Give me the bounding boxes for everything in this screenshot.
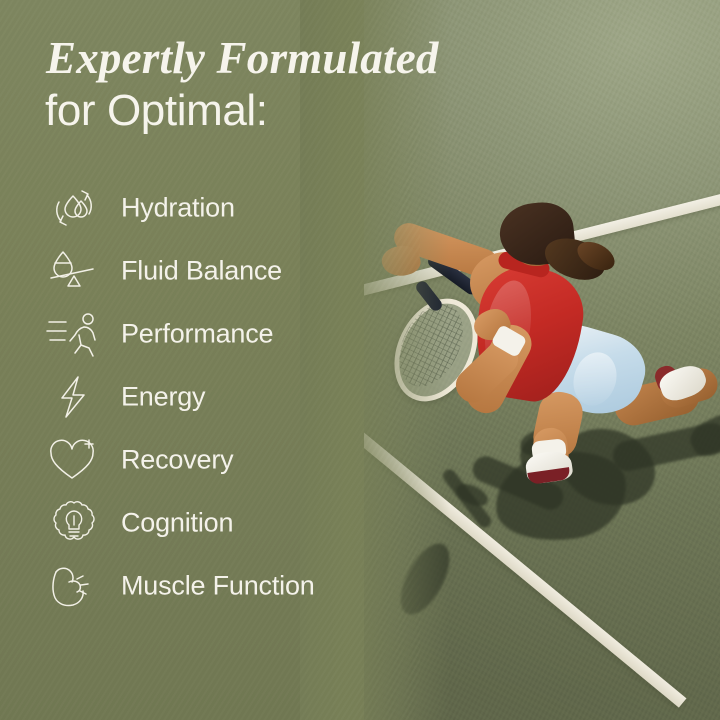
water-drops-cycle-icon [46, 182, 102, 234]
benefit-label: Performance [121, 318, 273, 349]
running-figure-icon [46, 308, 102, 360]
brain-lightbulb-icon [46, 497, 102, 549]
benefit-label: Cognition [121, 507, 233, 538]
marketing-hero-graphic: Expertly Formulated for Optimal: Hydrati… [0, 0, 720, 720]
benefits-list: Hydration Fluid Balance [0, 176, 420, 617]
benefit-item-hydration: Hydration [0, 176, 420, 239]
benefit-item-muscle-function: Muscle Function [0, 554, 420, 617]
lightning-bolt-icon [46, 371, 102, 423]
benefit-item-fluid-balance: Fluid Balance [0, 239, 420, 302]
benefit-label: Fluid Balance [121, 255, 282, 286]
headline-line-2: for Optimal: [45, 86, 268, 136]
droplet-balance-scale-icon [46, 245, 102, 297]
headline-line-1: Expertly Formulated [46, 32, 439, 84]
heart-sparkle-icon [46, 434, 102, 486]
benefit-label: Energy [121, 381, 205, 412]
benefit-label: Hydration [121, 192, 235, 223]
benefit-label: Recovery [121, 444, 233, 475]
benefit-item-cognition: Cognition [0, 491, 420, 554]
benefit-item-performance: Performance [0, 302, 420, 365]
benefit-item-energy: Energy [0, 365, 420, 428]
flexed-bicep-icon [46, 560, 102, 612]
content-layer: Expertly Formulated for Optimal: Hydrati… [0, 0, 420, 720]
benefit-item-recovery: Recovery [0, 428, 420, 491]
benefit-label: Muscle Function [121, 570, 315, 601]
